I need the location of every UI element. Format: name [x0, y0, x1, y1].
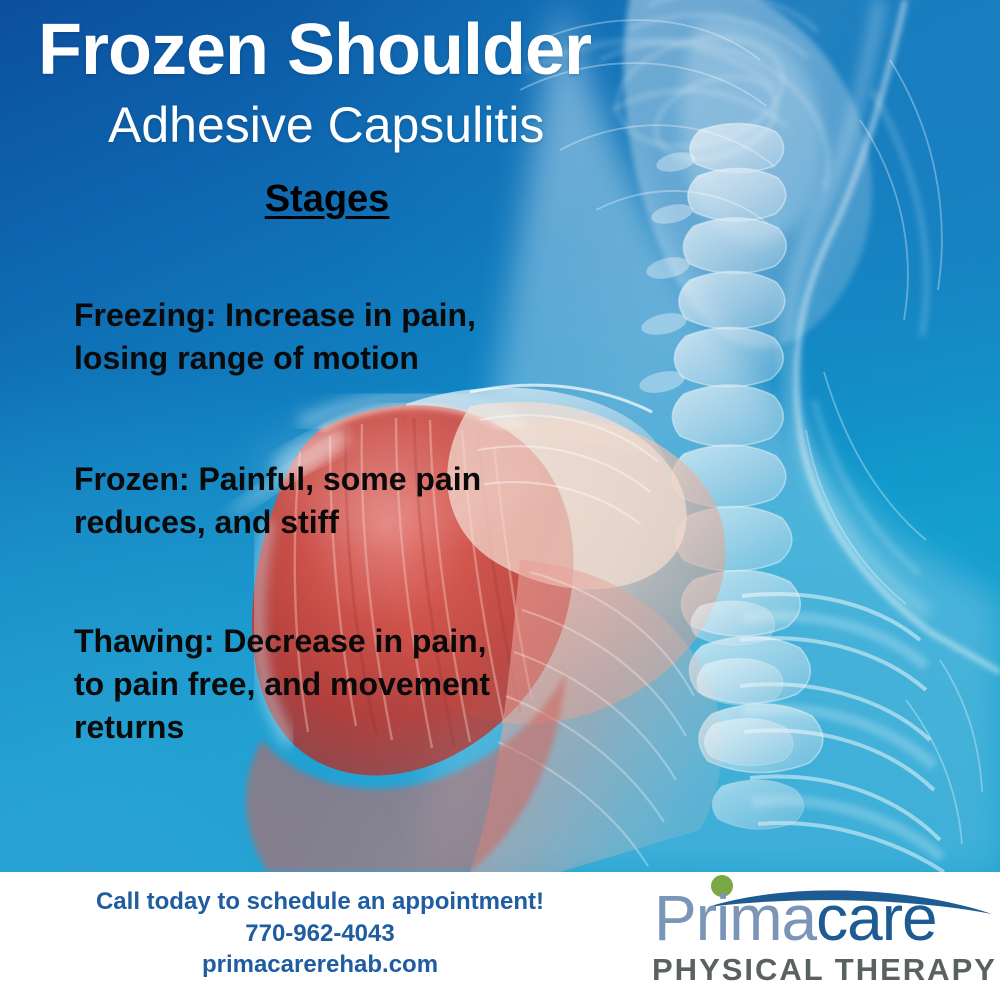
page-title: Frozen Shoulder: [38, 14, 591, 86]
poster: Frozen Shoulder Adhesive Capsulitis Stag…: [0, 0, 1000, 1000]
website-url[interactable]: primacarerehab.com: [0, 949, 640, 981]
stage-item-freezing: Freezing: Increase in pain, losing range…: [74, 294, 714, 380]
poster-artwork-background: Frozen Shoulder Adhesive Capsulitis Stag…: [0, 0, 1000, 872]
logo-word-prima: Prima: [654, 882, 816, 954]
primacare-logo[interactable]: Primacare PHYSICAL THERAPY: [648, 874, 1000, 998]
call-to-action-text: Call today to schedule an appointment!: [0, 886, 640, 918]
footer-contact-block: Call today to schedule an appointment! 7…: [0, 886, 640, 981]
page-subtitle: Adhesive Capsulitis: [108, 100, 544, 150]
phone-number[interactable]: 770-962-4043: [0, 918, 640, 950]
logo-wordmark: Primacare: [654, 886, 937, 950]
stage-item-frozen: Frozen: Painful, some pain reduces, and …: [74, 458, 714, 544]
footer-bar: Call today to schedule an appointment! 7…: [0, 872, 1000, 1000]
logo-word-care: care: [816, 882, 937, 954]
stages-heading-text: Stages: [265, 178, 390, 220]
stages-heading: Stages: [0, 178, 1000, 221]
stage-item-thawing: Thawing: Decrease in pain, to pain free,…: [74, 620, 714, 749]
logo-tagline: PHYSICAL THERAPY: [652, 952, 997, 988]
